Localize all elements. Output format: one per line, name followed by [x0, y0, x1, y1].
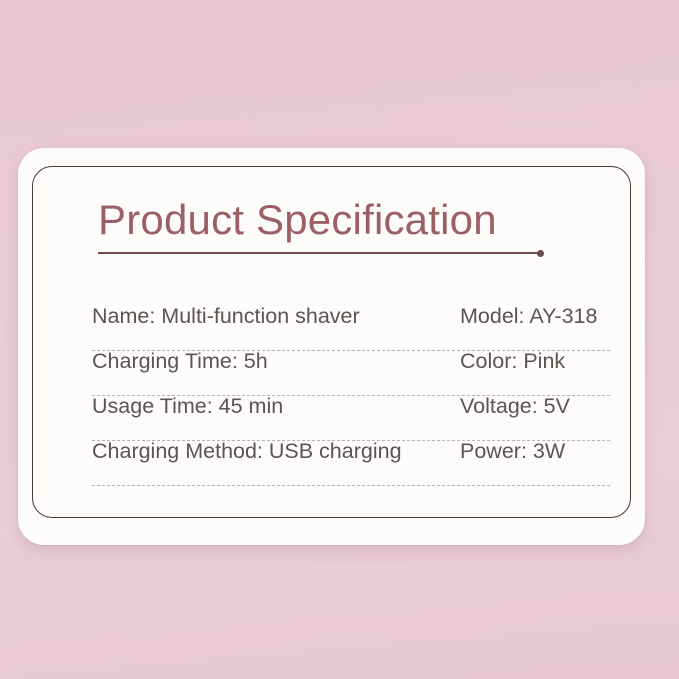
spec-cell-usage-time: Usage Time: 45 min	[92, 396, 460, 418]
spec-cell-voltage: Voltage: 5V	[460, 396, 610, 418]
spec-cell-name: Name: Multi-function shaver	[92, 306, 460, 328]
page-title: Product Specification	[98, 196, 575, 243]
specification-table: Name: Multi-function shaver Model: AY-31…	[92, 306, 610, 486]
product-specification-page: Product Specification Name: Multi-functi…	[0, 0, 679, 679]
title-underline	[98, 252, 542, 254]
spec-cell-charging-time: Charging Time: 5h	[92, 351, 460, 373]
title-underline-dot	[537, 250, 544, 257]
table-row: Name: Multi-function shaver Model: AY-31…	[92, 306, 610, 351]
spec-cell-color: Color: Pink	[460, 351, 610, 373]
spec-cell-model: Model: AY-318	[460, 306, 610, 328]
table-row: Charging Method: USB charging Power: 3W	[92, 441, 610, 486]
table-row: Usage Time: 45 min Voltage: 5V	[92, 396, 610, 441]
spec-cell-power: Power: 3W	[460, 441, 610, 463]
spec-cell-charging-method: Charging Method: USB charging	[92, 441, 460, 463]
specification-card: Product Specification Name: Multi-functi…	[18, 148, 645, 545]
table-row: Charging Time: 5h Color: Pink	[92, 351, 610, 396]
title-block: Product Specification	[98, 196, 575, 254]
